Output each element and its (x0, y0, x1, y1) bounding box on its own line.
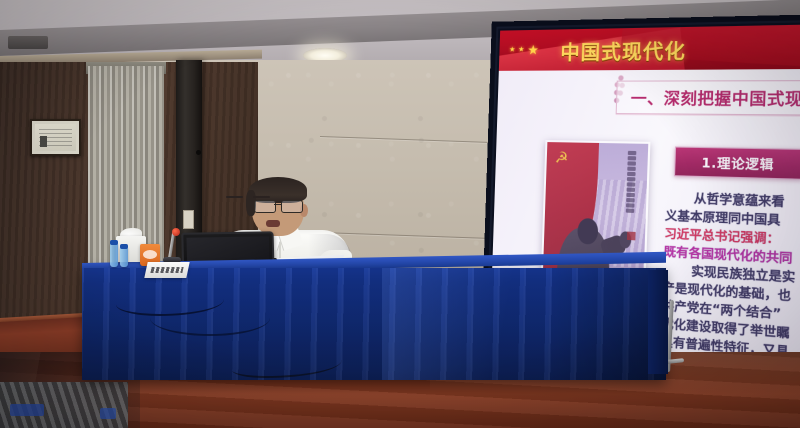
slide-subtitle-banner: 一、深刻把握中国式现代化的科 (616, 80, 800, 117)
floor-object (100, 408, 116, 419)
cable (150, 300, 270, 336)
lecture-room-photo: ★ ★ ★ 中国式现代化 一、深刻把握中国式现代化的科 ☭ (0, 0, 800, 428)
glasses-bridge (274, 204, 281, 205)
slide-header: ★ ★ ★ 中国式现代化 (499, 24, 800, 71)
pillar-bolt (196, 150, 201, 155)
star-icon: ★ (518, 46, 524, 53)
desk-highlight (382, 268, 552, 380)
notice-mark (40, 136, 47, 147)
floor-object (10, 404, 44, 416)
nameplate (144, 262, 189, 278)
slide-subtitle: 一、深刻把握中国式现代化的科 (630, 86, 800, 110)
mouth (266, 220, 280, 227)
water-bottle[interactable] (120, 247, 128, 267)
cup-label (143, 250, 157, 259)
poster-seal (627, 232, 636, 241)
hammer-sickle-icon: ☭ (555, 150, 574, 167)
ceiling-vent (8, 36, 48, 49)
eyebrow (226, 196, 243, 198)
glasses-lens (254, 200, 276, 213)
microphone-icon[interactable] (172, 228, 180, 236)
framed-notice-inner (35, 124, 76, 151)
wall-switch-plate[interactable] (183, 210, 194, 229)
water-bottle[interactable] (110, 243, 118, 267)
desk-side-panel (648, 270, 668, 374)
star-decoration: ★ ★ ★ (509, 43, 539, 57)
bottle-cap (110, 240, 118, 245)
glasses-lens (281, 200, 303, 213)
slide-section-badge: 1.理论逻辑 (674, 146, 800, 179)
star-icon: ★ (527, 43, 539, 56)
poster-calligraphy (622, 151, 638, 227)
slide-section-badge-label: 1.理论逻辑 (701, 153, 774, 173)
framed-notice (30, 119, 81, 156)
bottle-cap (120, 244, 128, 249)
glasses-icon (252, 200, 304, 211)
slide-body-text: 从哲学意蕴来看 义基本原理同中国具 习近平总书记强调： 既有各国现代化的共同 实… (660, 189, 800, 370)
slide-header-title: 中国式现代化 (560, 36, 687, 66)
star-icon: ★ (509, 46, 515, 53)
